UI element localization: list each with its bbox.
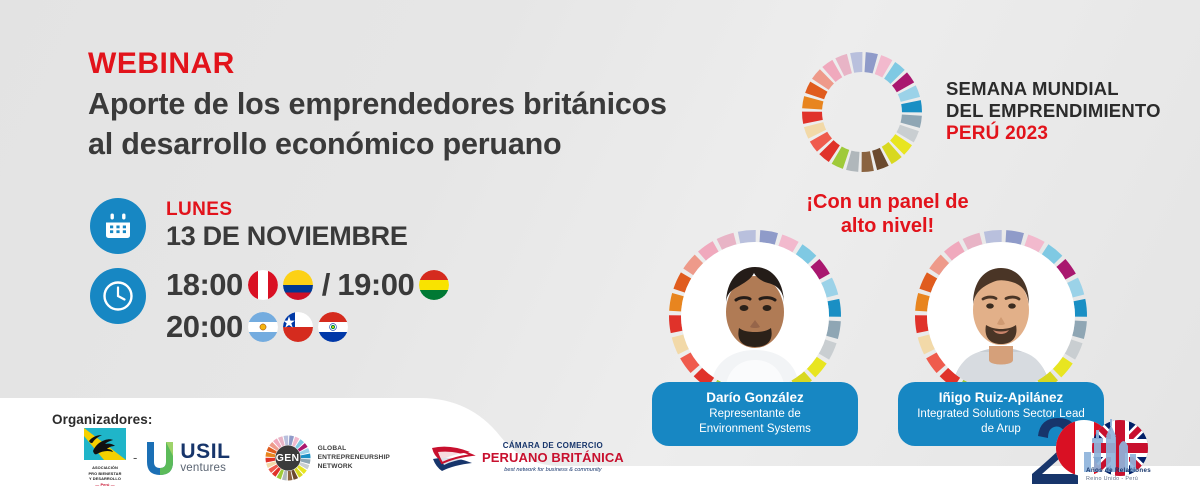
gen-mark-text: GEN [265,435,311,481]
time-value-1900: 19:00 [337,267,414,303]
anniversary-caption: Años de Relaciones Reino Unido - Perú [1086,466,1151,483]
camara-flag-icon [430,438,476,478]
argentina-flag [248,312,278,342]
200-years-logo[interactable]: Años de Relaciones Reino Unido - Perú [1024,412,1184,496]
gen-footer-text: GLOBAL ENTREPRENEURSHIP NETWORK [318,444,390,472]
schedule-block: LUNES 13 DE NOVIEMBRE 18:00 [90,198,449,348]
apbd-caption-3: Y DESARROLLO [84,476,126,482]
gen-footer-line-1: GLOBAL [318,444,390,453]
time-value-1800: 18:00 [166,267,243,303]
speaker-photo-inigo [927,242,1075,390]
paraguay-flag [318,312,348,342]
logo-separator: - [133,450,137,465]
usil-mark-icon [143,438,177,478]
time-row: 18:00 / 19:00 [90,264,449,348]
headline-block: WEBINAR Aporte de los emprendedores brit… [88,48,788,164]
webinar-title: Aporte de los emprendedores británicos a… [88,84,788,165]
gen-header-logo: SEMANA MUNDIAL DEL EMPRENDIMIENTO PERÚ 2… [800,50,1161,174]
usil-text: USIL ventures [180,442,230,474]
gen-logo[interactable]: GEN GLOBAL ENTREPRENEURSHIP NETWORK [265,435,390,481]
usil-subtitle: ventures [180,462,230,474]
avatar [667,228,843,404]
gen-footer-line-3: NETWORK [318,462,390,471]
gen-line-1: SEMANA MUNDIAL [946,78,1161,100]
apbd-caption-4: — Perú — [84,482,126,488]
time-value-2000: 20:00 [166,309,243,345]
webinar-banner: WEBINAR Aporte de los emprendedores brit… [0,0,1200,500]
chile-flag [283,312,313,342]
speaker-photo-dario [681,242,829,390]
camara-comercio-logo[interactable]: CÁMARA DE COMERCIO PERUANO BRITÁNICA bes… [430,438,624,478]
day-of-week: LUNES [166,200,408,221]
title-line-2: al desarrollo económico peruano [88,124,788,164]
apbd-caption: ASOCIACIÓN PRO BIENESTAR Y DESARROLLO — … [84,465,126,487]
time-line-2: 20:00 [166,306,449,348]
peru-flag [248,270,278,300]
gen-line-2: DEL EMPRENDIMIENTO [946,100,1161,122]
clock-icon [90,268,146,324]
callout-line-1: ¡Con un panel de [775,190,1000,214]
date-text: LUNES 13 DE NOVIEMBRE [166,200,408,252]
usil-ventures-logo[interactable]: USIL ventures [143,438,230,478]
bolivia-flag [419,270,449,300]
time-line-1: 18:00 / 19:00 [166,264,449,306]
gen-line-3: PERÚ 2023 [946,123,1161,146]
camara-line-2: PERUANO BRITÁNICA [482,451,624,466]
camara-text: CÁMARA DE COMERCIO PERUANO BRITÁNICA bes… [482,441,624,474]
camara-tagline: best network for business & community [482,466,624,474]
gen-ring-icon [800,50,924,174]
gen-footer-line-2: ENTREPRENEURSHIP [318,453,390,462]
anniversary-line-1: Años de Relaciones [1086,466,1151,475]
avatar [913,228,1089,404]
organizers-label: Organizadores: [52,412,152,427]
date-value: 13 DE NOVIEMBRE [166,221,408,252]
calendar-icon [90,198,146,254]
gen-header-text: SEMANA MUNDIAL DEL EMPRENDIMIENTO PERÚ 2… [946,78,1161,145]
apbd-mark-icon [84,428,126,460]
apbd-logo[interactable]: ASOCIACIÓN PRO BIENESTAR Y DESARROLLO — … [84,428,126,487]
usil-wordmark: USIL [180,442,230,462]
kicker-webinar: WEBINAR [88,48,788,80]
date-row: LUNES 13 DE NOVIEMBRE [90,198,449,254]
time-separator: / [322,267,331,303]
title-line-1: Aporte de los emprendedores británicos [88,84,788,124]
colombia-flag [283,270,313,300]
anniversary-line-2: Reino Unido - Perú [1086,475,1151,483]
time-values: 18:00 / 19:00 [166,264,449,348]
organizer-logos: ASOCIACIÓN PRO BIENESTAR Y DESARROLLO — … [84,428,624,487]
